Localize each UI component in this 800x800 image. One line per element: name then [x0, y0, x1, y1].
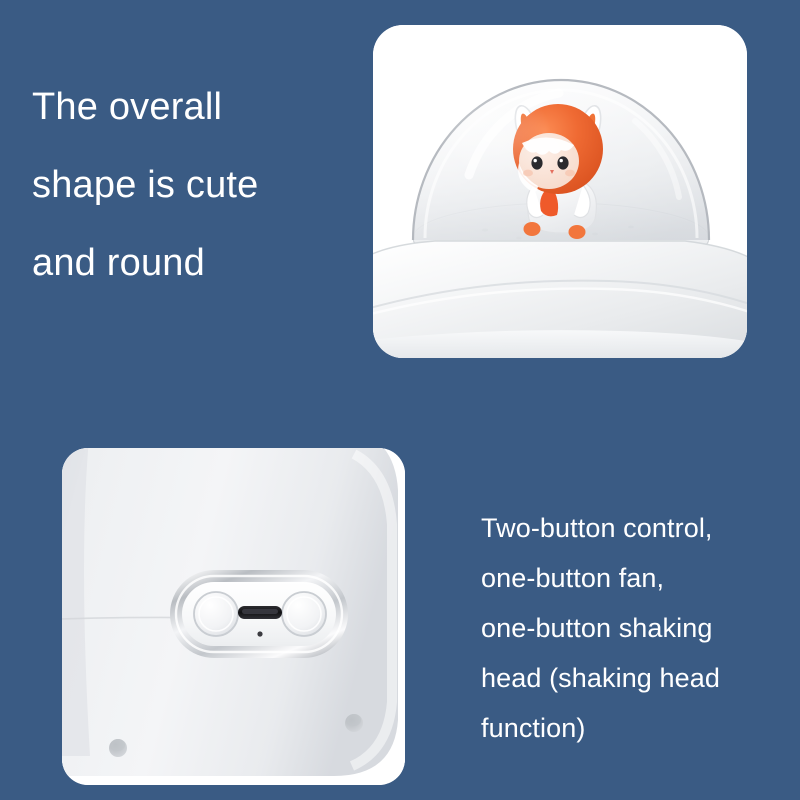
bunny-eye-right [557, 156, 568, 169]
shaking-head-button[interactable] [282, 592, 326, 636]
control-panel [170, 570, 348, 658]
control-panel-illustration [62, 448, 405, 785]
bunny-foot-left [524, 222, 541, 236]
product-poster: The overall shape is cute and round Two-… [0, 0, 800, 800]
feature-description-text: Two-button control, one-button fan, one-… [481, 503, 771, 753]
headline-text: The overall shape is cute and round [32, 68, 352, 302]
dome-product-illustration [373, 25, 747, 358]
fan-button[interactable] [194, 592, 238, 636]
bunny-foot-right [569, 225, 586, 239]
product-photo-controls [62, 448, 405, 785]
product-photo-dome [373, 25, 747, 358]
product-base [373, 241, 747, 358]
indicator-light [257, 631, 262, 636]
